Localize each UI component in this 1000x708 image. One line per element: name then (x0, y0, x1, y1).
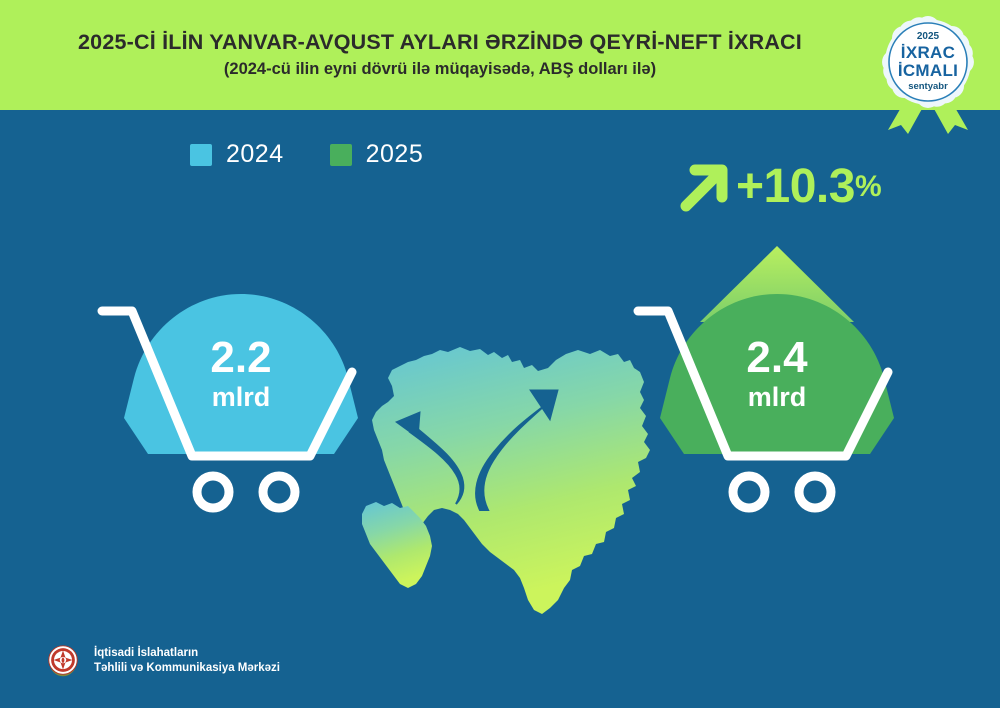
legend: 2024 2025 (190, 140, 423, 169)
legend-item-2024: 2024 (190, 140, 284, 169)
badge-rosette-icon (858, 6, 998, 134)
header-band: 2025-Cİ İLİN YANVAR-AVQUST AYLARI ƏRZİND… (0, 0, 1000, 110)
page-title: 2025-Cİ İLİN YANVAR-AVQUST AYLARI ƏRZİND… (78, 30, 802, 55)
export-review-badge: 2025 İXRAC İCMALI sentyabr (858, 6, 998, 134)
growth-indicator: +10.3 % (676, 158, 882, 216)
growth-percent-symbol: % (855, 172, 882, 202)
shopping-cart-2025-icon (632, 236, 922, 518)
cart-2025: 2.4 mlrd (632, 236, 922, 518)
arrow-up-right-icon (676, 158, 734, 216)
cart-2024-wheel-left (197, 476, 229, 508)
shopping-cart-2024-icon (96, 278, 386, 518)
legend-swatch-2025 (330, 144, 352, 166)
cart-2025-wheel-right (799, 476, 831, 508)
legend-swatch-2024 (190, 144, 212, 166)
legend-label-2025: 2025 (366, 140, 424, 169)
title-block: 2025-Cİ İLİN YANVAR-AVQUST AYLARI ƏRZİND… (0, 0, 880, 110)
legend-item-2025: 2025 (330, 140, 424, 169)
cart-2024: 2.2 mlrd (96, 278, 386, 518)
azerbaijan-emblem-icon (44, 642, 82, 680)
page-subtitle: (2024-cü ilin eyni dövrü ilə müqayisədə,… (224, 60, 656, 80)
cart-2025-wheel-left (733, 476, 765, 508)
growth-value: +10.3 (736, 163, 855, 211)
cart-2024-wheel-right (263, 476, 295, 508)
footer-text-block: İqtisadi İslahatların Təhlili və Kommuni… (94, 646, 280, 676)
footer-line2: Təhlili və Kommunikasiya Mərkəzi (94, 661, 280, 676)
footer-line1: İqtisadi İslahatların (94, 646, 280, 661)
footer: İqtisadi İslahatların Təhlili və Kommuni… (44, 642, 280, 680)
legend-label-2024: 2024 (226, 140, 284, 169)
infographic-root: 2025-Cİ İLİN YANVAR-AVQUST AYLARI ƏRZİND… (0, 0, 1000, 708)
